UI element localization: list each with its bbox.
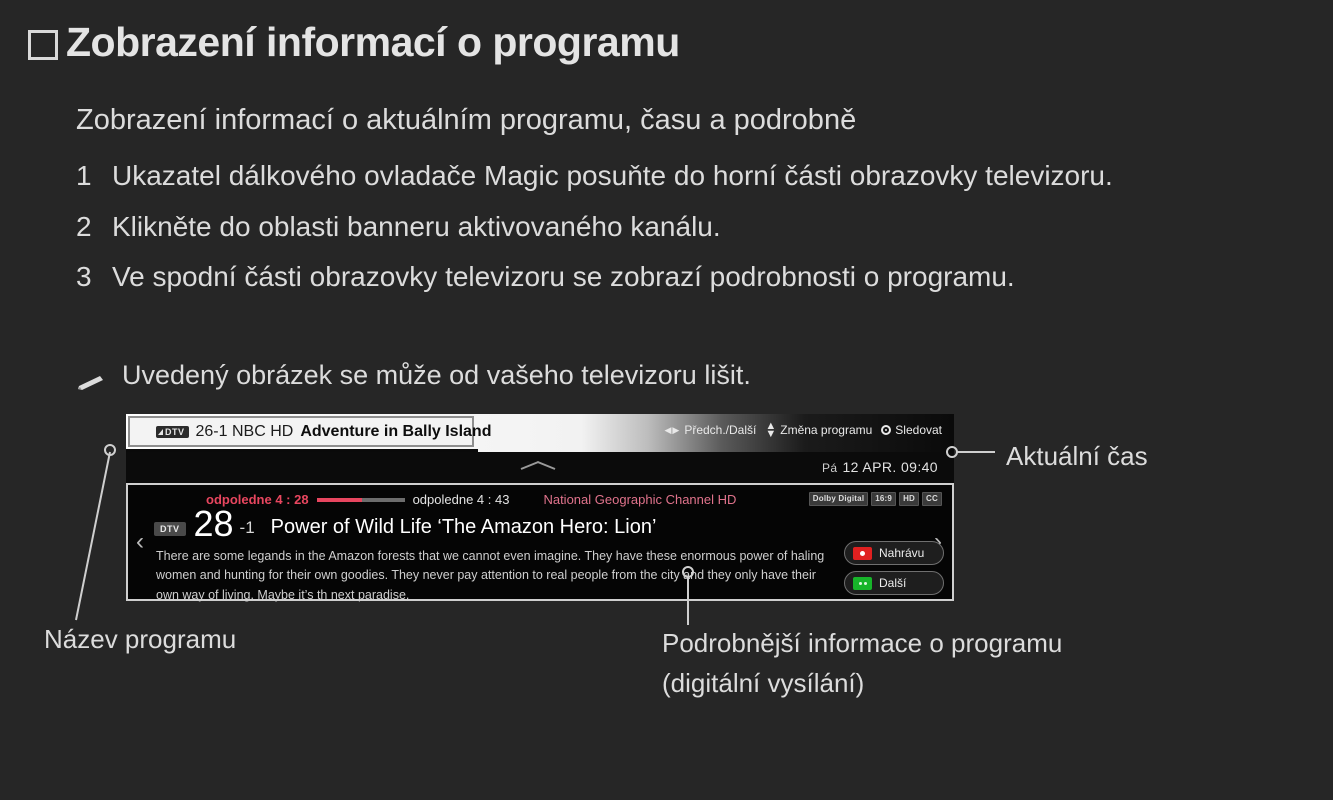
- up-down-arrows-icon: ▲▼: [765, 422, 776, 439]
- key-hint-label: Sledovat: [895, 423, 942, 437]
- note-text: Uvedený obrázek se může od vašeho televi…: [122, 360, 751, 391]
- program-title-row: DTV 28 -1 Power of Wild Life ‘The Amazon…: [154, 507, 656, 541]
- intro-text: Zobrazení informací o aktuálním programu…: [76, 104, 856, 137]
- pencil-icon: [76, 368, 106, 399]
- dtv-badge-icon: DTV: [154, 522, 186, 536]
- banner-channel-number: 26-1 NBC HD: [196, 423, 294, 441]
- page-title-text: Zobrazení informací o programu: [66, 22, 680, 63]
- key-hint-change-channel[interactable]: ▲▼ Změna programu: [765, 422, 872, 439]
- program-progress-bar: [317, 498, 405, 502]
- slide-page: Zobrazení informací o programu Zobrazení…: [0, 0, 1333, 800]
- key-hint-prev-next[interactable]: ◀▶ Předch./Další: [664, 423, 756, 437]
- chevron-left-icon[interactable]: ‹: [136, 531, 146, 553]
- program-detail-panel: ‹ › odpoledne 4 : 28 odpoledne 4 : 43 Na…: [126, 483, 954, 601]
- step-item: 3 Ve spodní části obrazovky televizoru s…: [76, 257, 1276, 298]
- step-item: 1 Ukazatel dálkového ovladače Magic posu…: [76, 156, 1276, 197]
- left-right-arrows-icon: ◀▶: [664, 425, 680, 436]
- banner-sub-row: Pá12 APR. 09:40: [126, 452, 954, 483]
- page-title: Zobrazení informací o programu: [28, 22, 680, 63]
- step-number: 2: [76, 207, 112, 248]
- step-item: 2 Klikněte do oblasti banneru aktivované…: [76, 207, 1276, 248]
- badge-closed-caption: CC: [922, 492, 942, 506]
- dtv-badge-icon: DTV: [156, 426, 189, 438]
- channel-major-number: 28: [194, 507, 234, 541]
- key-hint-label: Změna programu: [780, 423, 872, 437]
- program-channel-name: National Geographic Channel HD: [543, 492, 736, 507]
- step-number: 1: [76, 156, 112, 197]
- record-button-label: Nahrávu: [879, 546, 924, 560]
- record-button[interactable]: Nahrávu: [844, 541, 944, 565]
- tv-screen-mock: DTV 26-1 NBC HD Adventure in Bally Islan…: [126, 414, 954, 579]
- step-text: Klikněte do oblasti banneru aktivovaného…: [112, 207, 1276, 248]
- next-button[interactable]: Další: [844, 571, 944, 595]
- program-action-buttons: Nahrávu Další: [844, 541, 944, 595]
- callout-more-info-line2: (digitální vysílání): [662, 668, 864, 699]
- channel-minor-number: -1: [240, 518, 255, 538]
- badge-aspect-ratio: 16:9: [871, 492, 896, 506]
- callout-current-time: Aktuální čas: [1006, 441, 1148, 472]
- chevron-up-icon[interactable]: [521, 462, 555, 474]
- program-progress-fill: [317, 498, 363, 502]
- note-row: Uvedený obrázek se může od vašeho televi…: [76, 360, 751, 399]
- badge-hd: HD: [899, 492, 919, 506]
- step-text: Ve spodní části obrazovky televizoru se …: [112, 257, 1276, 298]
- next-button-label: Další: [879, 576, 906, 590]
- badge-dolby-digital: Dolby Digital: [809, 492, 869, 506]
- program-time-row: odpoledne 4 : 28 odpoledne 4 : 43 Nation…: [206, 492, 736, 507]
- current-time-value: 12 APR. 09:40: [843, 459, 939, 475]
- callout-program-name: Název programu: [44, 624, 236, 655]
- ok-wheel-icon: [881, 425, 891, 435]
- next-icon: [853, 577, 872, 590]
- step-number: 3: [76, 257, 112, 298]
- program-description: There are some legands in the Amazon for…: [156, 547, 828, 605]
- record-icon: [853, 547, 872, 560]
- step-text: Ukazatel dálkového ovladače Magic posuňt…: [112, 156, 1276, 197]
- program-badges: Dolby Digital 16:9 HD CC: [809, 492, 942, 506]
- banner-key-hints: ◀▶ Předch./Další ▲▼ Změna programu Sledo…: [664, 422, 942, 439]
- program-end-time: odpoledne 4 : 43: [413, 492, 510, 507]
- current-day: Pá: [822, 461, 837, 475]
- square-bullet-icon: [28, 30, 58, 60]
- channel-banner-box[interactable]: DTV 26-1 NBC HD Adventure in Bally Islan…: [128, 416, 474, 447]
- current-time: Pá12 APR. 09:40: [822, 459, 938, 475]
- key-hint-label: Předch./Další: [684, 423, 756, 437]
- program-title: Power of Wild Life ‘The Amazon Hero: Lio…: [271, 516, 657, 539]
- key-hint-watch[interactable]: Sledovat: [881, 423, 942, 437]
- steps-list: 1 Ukazatel dálkového ovladače Magic posu…: [76, 156, 1276, 308]
- banner-program-title: Adventure in Bally Island: [300, 423, 491, 441]
- channel-banner: DTV 26-1 NBC HD Adventure in Bally Islan…: [126, 414, 954, 452]
- callout-more-info-line1: Podrobnější informace o programu: [662, 628, 1062, 659]
